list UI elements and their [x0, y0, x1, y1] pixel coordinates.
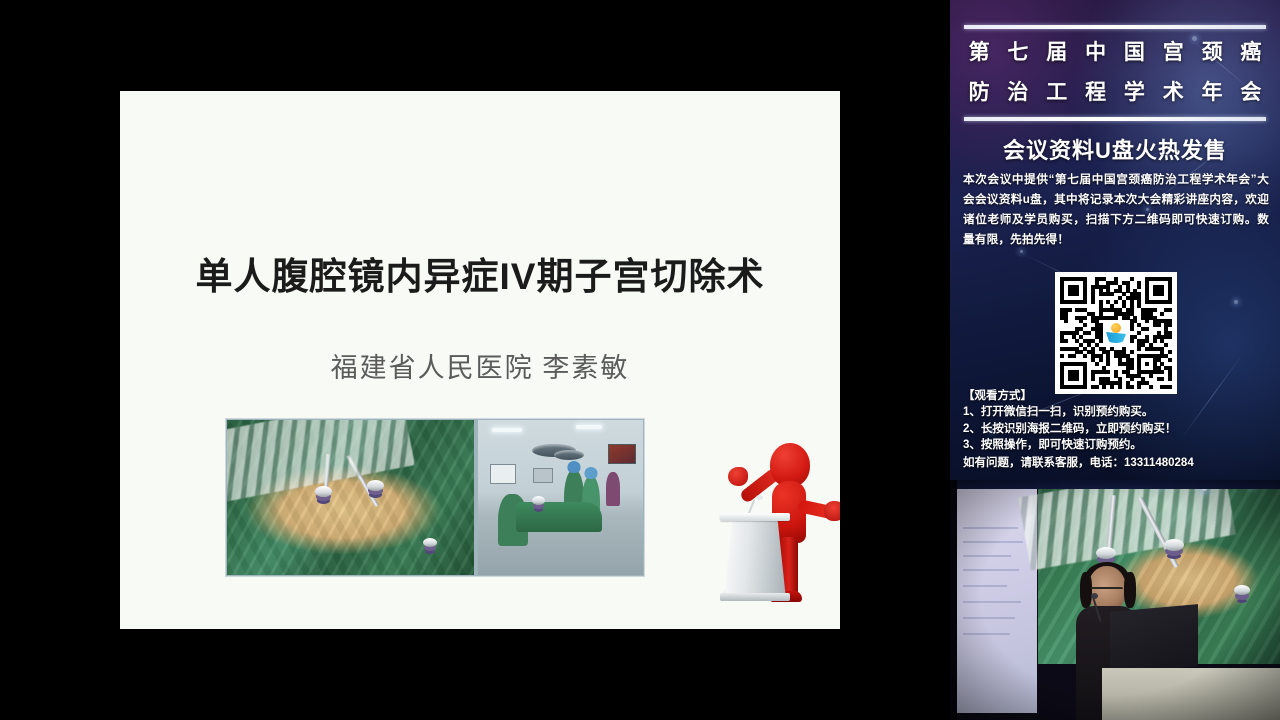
red-presenter-mascot-icon [720, 441, 840, 601]
conference-promo-poster: 第 七 届 中 国 宫 颈 癌 防 治 工 程 学 术 年 会 会议资料U盘火热… [950, 0, 1280, 480]
qr-center-logo-icon [1103, 320, 1129, 346]
poster-heading-line-1: 第 七 届 中 国 宫 颈 癌 [950, 33, 1280, 73]
viewing-instructions-list: 1、打开微信扫一扫，识别预约购买。 2、长按识别海报二维码，立即预约购买！ 3、… [963, 404, 1273, 454]
feed-top-letterbox [950, 480, 1280, 489]
right-sidebar: 第 七 届 中 国 宫 颈 癌 防 治 工 程 学 术 年 会 会议资料U盘火热… [950, 0, 1280, 720]
photo-laparoscopic-drape-closeup [227, 420, 474, 575]
slide-video-area[interactable]: 单人腹腔镜内异症IV期子宫切除术 福建省人民医院 李素敏 [0, 0, 930, 720]
poster-heading-line-2: 防 治 工 程 学 术 年 会 [950, 73, 1280, 113]
webcast-screen: 单人腹腔镜内异症IV期子宫切除术 福建省人民医院 李素敏 [0, 0, 1280, 720]
poster-divider-bottom [964, 117, 1266, 121]
live-speaker-camera-feed[interactable] [950, 480, 1280, 720]
instruction-step: 2、长按识别海报二维码，立即预约购买！ [963, 421, 1273, 438]
slide-photo-group [225, 418, 645, 577]
laptop-on-lectern [1110, 604, 1198, 674]
qr-code[interactable] [1055, 272, 1177, 394]
instruction-step: 3、按照操作，即可快速订购预约。 [963, 437, 1273, 454]
poster-body-text: 本次会议中提供“第七届中国宫颈癌防治工程学术年会”大会会议资料u盘，其中将记录本… [963, 170, 1269, 250]
presentation-slide: 单人腹腔镜内异症IV期子宫切除术 福建省人民医院 李素敏 [120, 91, 840, 629]
poster-heading: 第 七 届 中 国 宫 颈 癌 防 治 工 程 学 术 年 会 [950, 33, 1280, 113]
poster-subheading: 会议资料U盘火热发售 [950, 133, 1280, 165]
viewing-instructions-title: 【观看方式】 [963, 388, 1273, 404]
feed-left-letterbox [950, 480, 957, 720]
poster-divider-top [964, 25, 1266, 29]
photo-operating-room-wide-shot [478, 420, 643, 575]
slide-title: 单人腹腔镜内异症IV期子宫切除术 [120, 246, 840, 300]
instruction-step: 1、打开微信扫一扫，识别预约购买。 [963, 404, 1273, 421]
customer-service-contact: 如有问题，请联系客服，电话：13311480284 [963, 455, 1273, 472]
lectern [1102, 668, 1280, 720]
viewing-instructions: 【观看方式】 1、打开微信扫一扫，识别预约购买。 2、长按识别海报二维码，立即预… [963, 388, 1273, 472]
slide-subtitle: 福建省人民医院 李素敏 [120, 346, 840, 385]
